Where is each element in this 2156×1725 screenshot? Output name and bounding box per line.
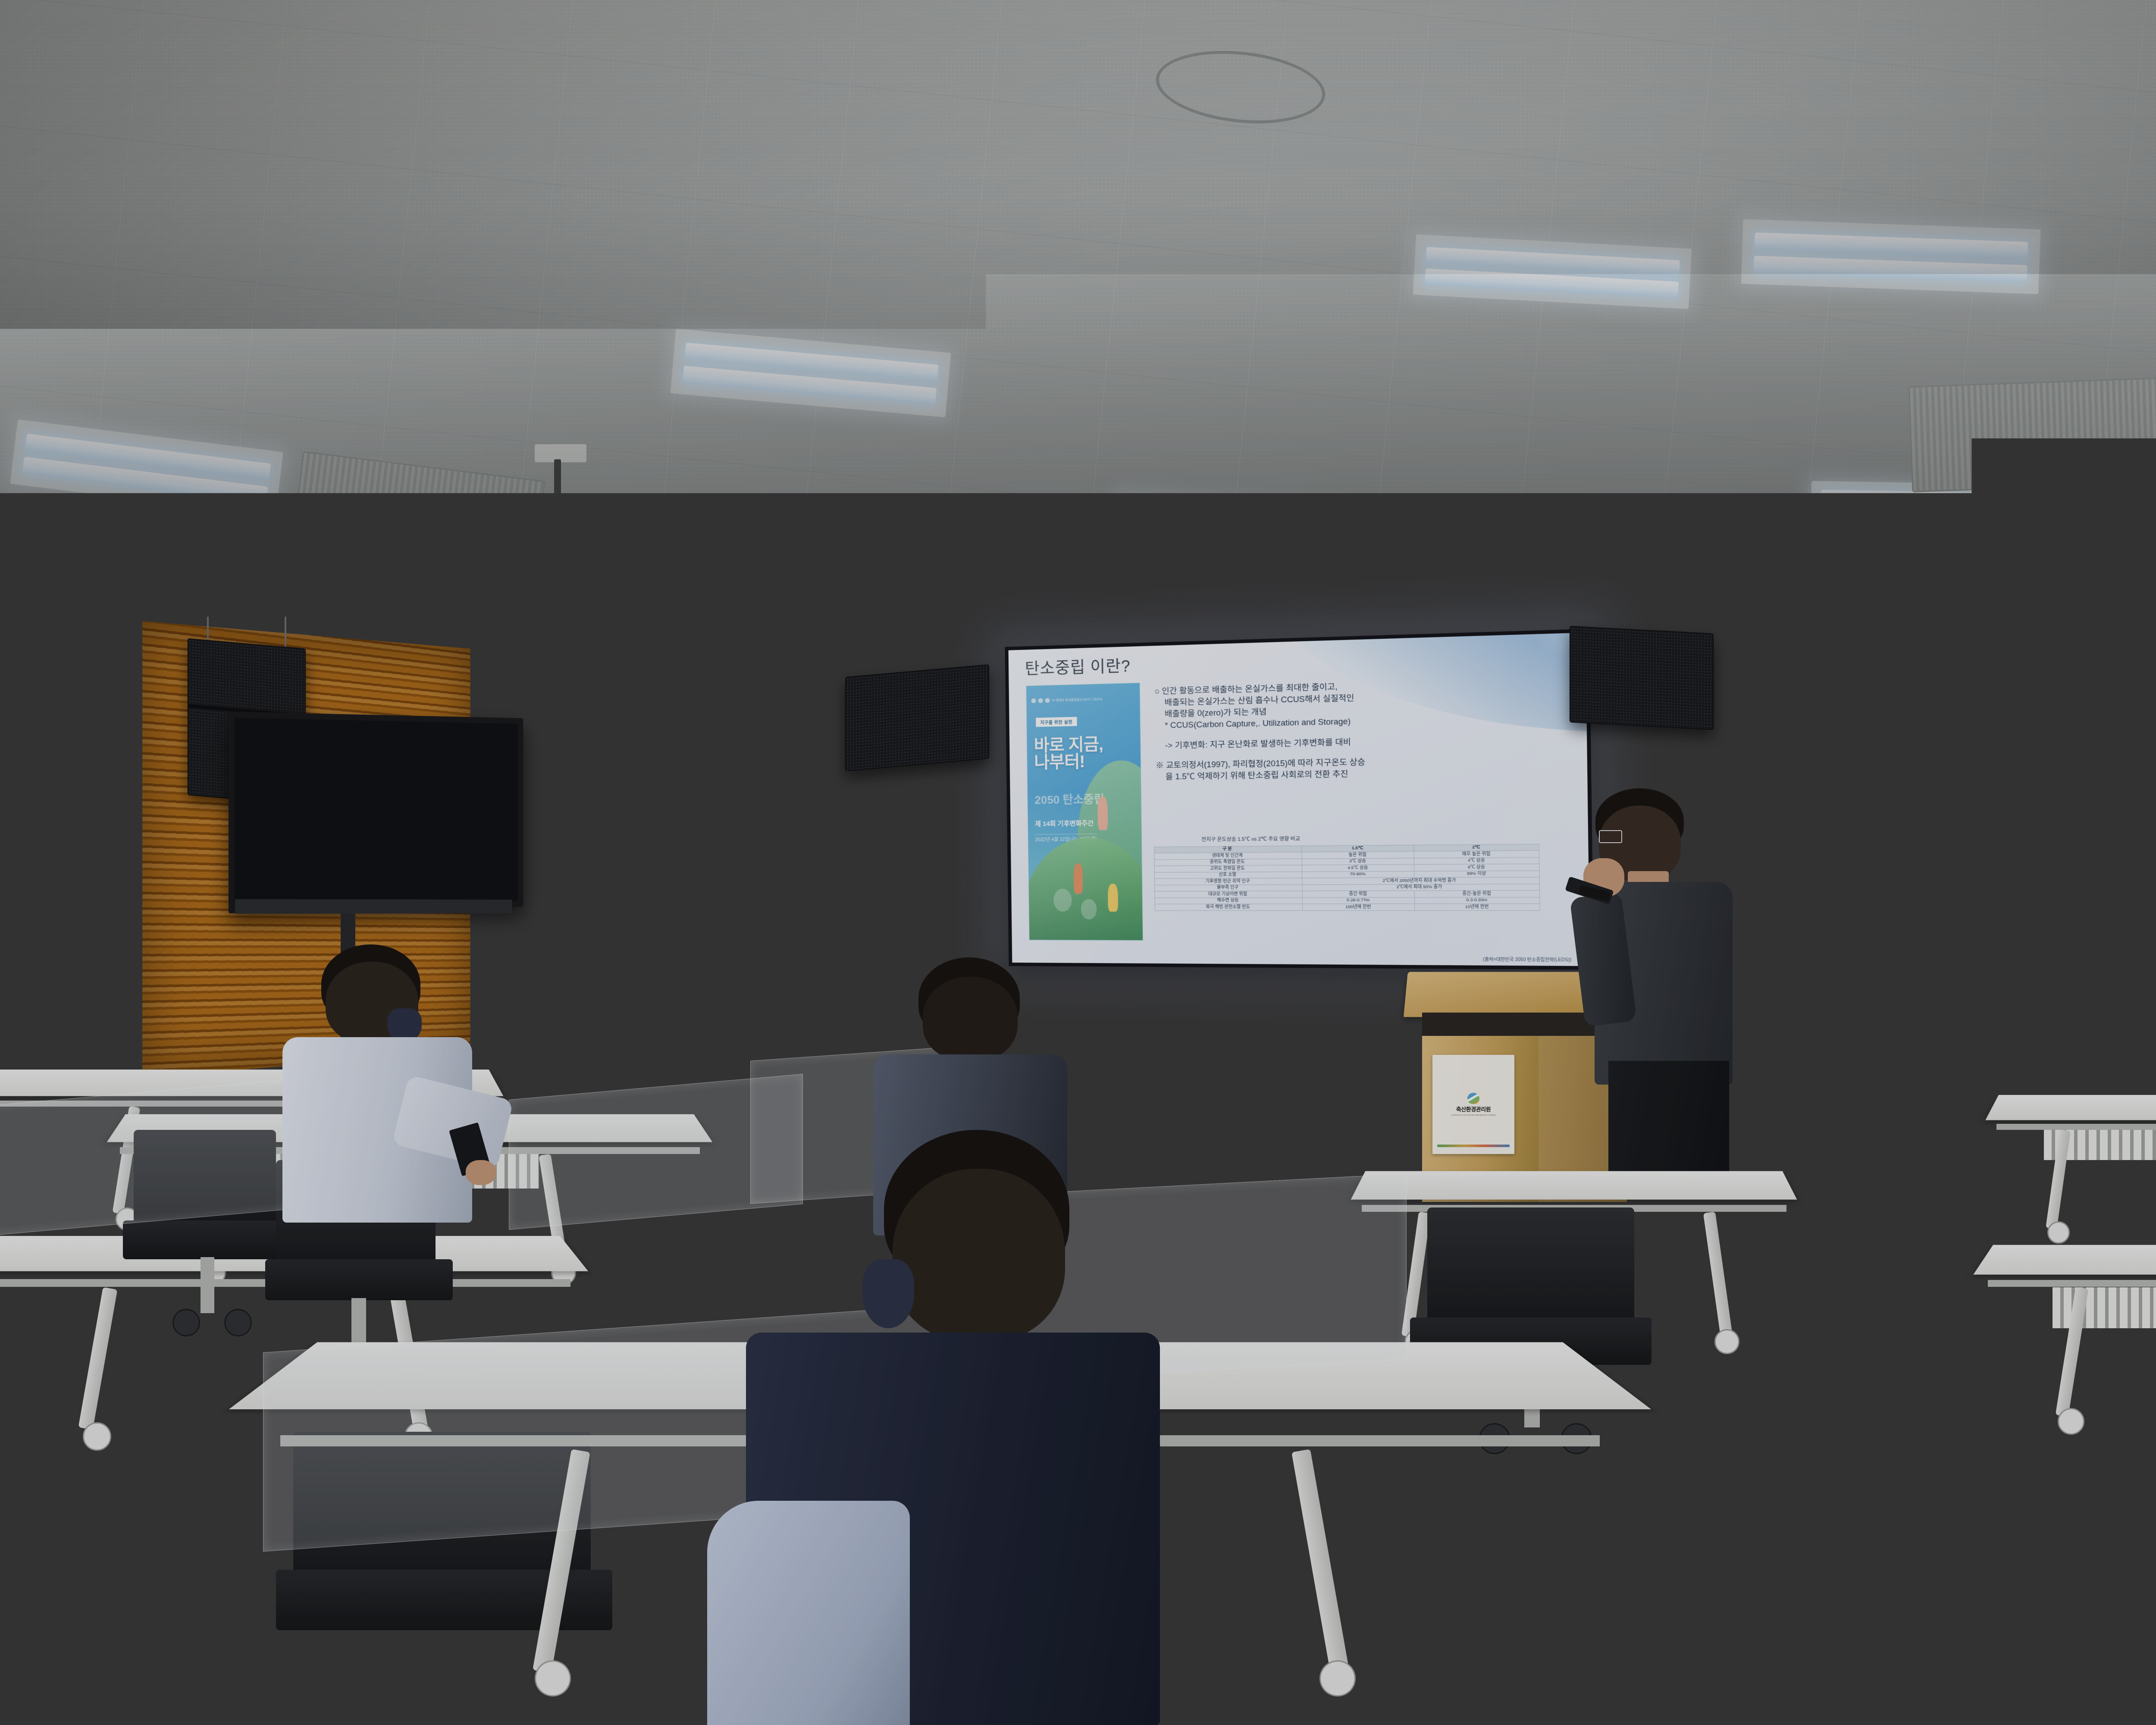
poster-ribbon-label: 지구를 위한 실천 bbox=[1036, 717, 1077, 727]
presenter-glasses bbox=[1599, 830, 1622, 843]
slide-title: 탄소중립 이란? bbox=[1025, 653, 1131, 679]
table-cell: 3℃ 상승 bbox=[1302, 858, 1414, 866]
table-cell: 높은 위험 bbox=[1302, 851, 1414, 859]
presentation-slide: 탄소중립 이란? 52 환경부 한국환경공단 KEITI 그린수소 지구를 위한… bbox=[1009, 633, 1590, 966]
slide-comparison-table: 구 분1.5℃2℃생태계 및 인간계높은 위험매우 높은 위험중위도 폭염일 온… bbox=[1154, 844, 1540, 911]
poster-logo-strip: 52 환경부 한국환경공단 KEITI 그린수소 bbox=[1031, 691, 1135, 708]
wall-speaker-center bbox=[845, 664, 989, 771]
attendee-left-hand bbox=[466, 1160, 496, 1185]
table-cell: 100년에 한번 bbox=[1302, 904, 1415, 910]
table-cell: 0.3-0.93m bbox=[1415, 897, 1540, 904]
table-cell-merged: 2℃에서 최대 50% 증가 bbox=[1302, 884, 1539, 891]
table-row-label: 기후영향·빈곤 취약 인구 bbox=[1154, 878, 1302, 885]
poster-logo-text: 52 환경부 한국환경공단 KEITI 그린수소 bbox=[1052, 697, 1103, 703]
poster-figure-1 bbox=[1097, 797, 1108, 830]
wall-display-monitor bbox=[229, 712, 523, 913]
table-cell: 99% 이상 bbox=[1414, 871, 1539, 878]
mic-stand-pole bbox=[2093, 936, 2100, 1091]
table-cell: 중간 위험 bbox=[1302, 891, 1415, 898]
table-cell: 4.5℃ 상승 bbox=[1302, 865, 1414, 872]
table-right-front bbox=[1984, 1233, 2156, 1432]
poster-subhead: 2050 탄소중립 bbox=[1034, 790, 1104, 807]
monitor-bottom-bar bbox=[235, 899, 512, 914]
presenter bbox=[1544, 785, 1738, 1186]
poster-icon-bubble-2 bbox=[1081, 899, 1097, 919]
table-row: 대규모 기상이변 위험중간 위험중간-높은 위험 bbox=[1154, 891, 1539, 898]
seminar-room-photo: 탄소중립 이란? 52 환경부 한국환경공단 KEITI 그린수소 지구를 위한… bbox=[0, 0, 2156, 1725]
podium-org-name-kr: 축산환경관리원 bbox=[1456, 1105, 1491, 1113]
speaker-chain-left-b bbox=[285, 617, 286, 647]
table-cell: 4℃ 상승 bbox=[1414, 857, 1539, 865]
table-cell: 중간-높은 위험 bbox=[1415, 891, 1540, 897]
table-row: 북극 해빙 완전소멸 빈도100년에 한번10년에 한번 bbox=[1155, 904, 1540, 911]
attendee-front-head bbox=[893, 1169, 1065, 1341]
attendee-white-shirt bbox=[250, 944, 517, 1238]
attendee-front-shirt-sleeve bbox=[707, 1501, 910, 1725]
poster-event-name: 제 14회 기후변화주간 bbox=[1035, 819, 1094, 828]
attendee-mid-head bbox=[923, 977, 1018, 1061]
panel-digit-main: 4 bbox=[2053, 714, 2065, 736]
projection-screen: 탄소중립 이란? 52 환경부 한국환경공단 KEITI 그린수소 지구를 위한… bbox=[1005, 629, 1594, 970]
table-row-label: 산호 소멸 bbox=[1154, 872, 1302, 878]
lectern-emblem bbox=[1915, 1029, 1962, 1069]
floor-cables-2 bbox=[1746, 1242, 1889, 1274]
panel-digit-green-right: 29 bbox=[2106, 734, 2119, 747]
wall-speaker-right-inner bbox=[1570, 626, 1714, 730]
org-plate-stripe bbox=[1437, 1145, 1509, 1147]
attendee-front-mask bbox=[862, 1259, 914, 1328]
slide-body-text: ○ 인간 활동으로 배출하는 온실가스를 최대한 줄이고, 배출되는 온실가스는… bbox=[1155, 675, 1566, 783]
podium-org-name-en: Livestock Environmental Management Insti… bbox=[1451, 1114, 1496, 1116]
table-row: 해수면 상승0.26-0.77m0.3-0.93m bbox=[1155, 897, 1540, 904]
campaign-poster-image: 52 환경부 한국환경공단 KEITI 그린수소 지구를 위한 실천 바로 지금… bbox=[1026, 683, 1143, 941]
attendee-navy-vest bbox=[681, 1130, 1250, 1725]
poster-hill-near bbox=[1026, 837, 1143, 941]
slide-table-caption: 전지구 온도상승 1.5℃ vs 2℃ 주요 영향 비교 bbox=[1201, 835, 1300, 843]
table-header-cell: 1.5℃ bbox=[1301, 845, 1414, 852]
poster-headline: 바로 지금,나부터! bbox=[1034, 737, 1103, 771]
table-cell: 70-90% bbox=[1302, 871, 1414, 878]
org-logo-icon bbox=[1467, 1093, 1479, 1104]
ac-control-panel[interactable]: 02 4 3 29 bbox=[2027, 666, 2139, 757]
table-cell: 0.26-0.77m bbox=[1302, 897, 1415, 904]
table-row-label: 해수면 상승 bbox=[1155, 897, 1302, 904]
table-cell-merged: 2℃에서 2050년까지 최대 수억명 증가 bbox=[1302, 877, 1539, 884]
table-cell: 10년에 한번 bbox=[1415, 904, 1540, 910]
table-row-label: 물부족 인구 bbox=[1154, 884, 1302, 891]
poster-figure-2 bbox=[1074, 863, 1083, 894]
table-cell: 매우 높은 위험 bbox=[1414, 850, 1539, 858]
table-row-label: 고위도 한파일 온도 bbox=[1154, 865, 1302, 872]
poster-figure-3 bbox=[1108, 884, 1118, 912]
podium-org-plate: 축산환경관리원 Livestock Environmental Manageme… bbox=[1432, 1055, 1514, 1154]
table-row-label: 북극 해빙 완전소멸 빈도 bbox=[1155, 904, 1302, 910]
panel-digit-green-left: 3 bbox=[2085, 734, 2091, 747]
poster-icon-bubble-1 bbox=[1053, 889, 1072, 912]
table-cell: 6℃ 상승 bbox=[1414, 864, 1539, 871]
panel-digit-top: 02 bbox=[2079, 688, 2092, 701]
table-right-rear bbox=[1992, 1087, 2156, 1229]
table-row-label: 대규모 기상이변 위험 bbox=[1154, 891, 1302, 898]
